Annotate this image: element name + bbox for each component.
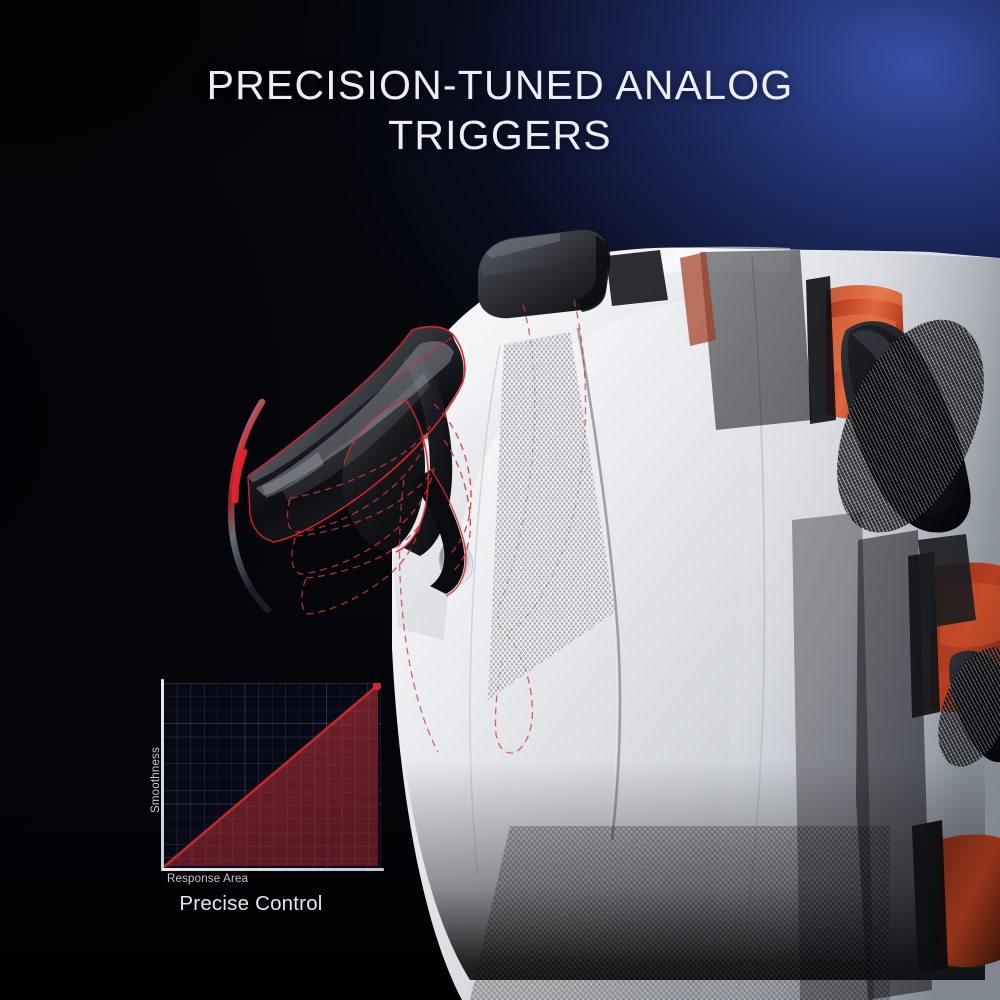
product-feature-image: PRECISION-TUNED ANALOG TRIGGERS [0,0,1000,1000]
upper-dark-panel [700,250,812,430]
chart-series-vector [163,683,381,868]
bumper-slot-shadow [606,250,668,306]
chart-caption: Precise Control [132,892,370,916]
shoulder-bumper-button[interactable] [478,230,610,319]
headline: PRECISION-TUNED ANALOG TRIGGERS [0,60,1000,160]
bottom-grip-texture [470,826,890,1000]
chart-y-axis-label: Smoothness [150,725,162,835]
right-black-module [918,534,976,628]
headline-line-1: PRECISION-TUNED ANALOG [0,60,1000,110]
chart-x-axis-label: Response Area [167,873,248,885]
chart-plot-area [163,683,381,868]
headline-line-2: TRIGGERS [0,110,1000,160]
chart-x-axis [162,868,384,871]
response-curve-chart: Smoothness Response Area Precise Control [132,666,394,922]
accent-orange-drum-bottom [938,835,1000,968]
